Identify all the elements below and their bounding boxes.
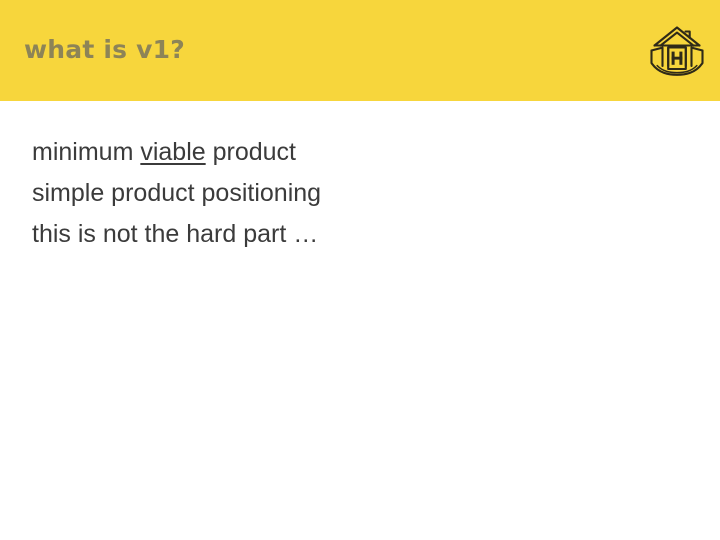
body-line-3-before: this is not the hard part … [32,220,318,248]
body-line-1: minimum viable product [32,132,592,173]
body-line-3: this is not the hard part … [32,214,592,255]
body-line-1-before: minimum [32,138,140,166]
body-line-2: simple product positioning [32,173,592,214]
body-line-2-before: simple product positioning [32,179,321,207]
page-title: what is v1? [24,33,185,67]
slide: what is v1? [0,0,720,540]
body-line-1-emphasis: viable [140,138,205,166]
body-line-1-after: product [206,138,296,166]
body-text-block: minimum viable product simple product po… [32,132,592,255]
house-h-logo [649,23,705,77]
